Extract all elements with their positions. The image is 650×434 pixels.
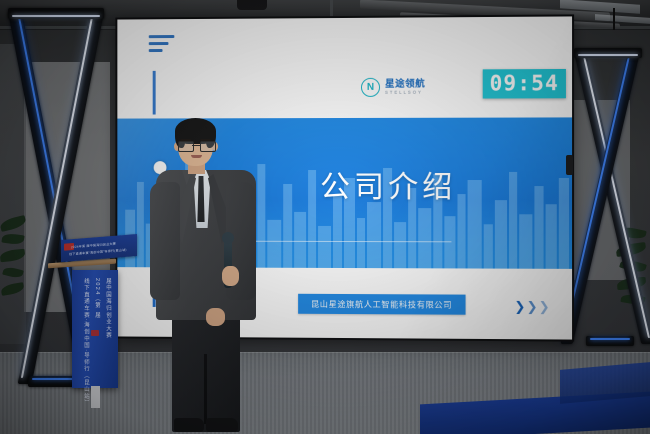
skyline-building	[546, 204, 557, 269]
deco-bar	[149, 42, 169, 45]
skyline-building	[534, 186, 543, 269]
countdown-timer: 09:54	[483, 69, 566, 99]
skyline-building	[308, 170, 316, 268]
light-hanging-rod	[613, 8, 615, 32]
presenter-shoe	[174, 418, 204, 432]
stellsoy-circle-logo-icon: N	[361, 78, 380, 97]
skyline-building	[495, 200, 507, 268]
podium-text-column-1: 届中国海归创业大赛	[103, 278, 113, 339]
podium-text-column-2: 2024（第 届	[92, 278, 102, 319]
skyline-building	[137, 182, 144, 267]
screen-bezel-notch	[566, 155, 573, 175]
podium-text-column-3: 线下直通车赛·海创中国·导师行（昆山站）	[81, 278, 91, 407]
skyline-building	[468, 180, 482, 269]
presenter-arm-left	[150, 182, 180, 300]
logo-name-cn: 星途领航	[385, 80, 425, 90]
skyline-building	[283, 184, 292, 268]
skyline-building	[444, 216, 455, 268]
logo-name-en: STELLSOY	[385, 90, 425, 94]
skyline-building	[519, 214, 532, 268]
skyline-building	[418, 208, 431, 268]
presenter-shoe	[206, 418, 238, 432]
skyline-building	[484, 224, 493, 268]
skyline-building	[559, 178, 569, 269]
presenter	[150, 118, 262, 418]
conference-stage-scene: N 星途领航 STELLSOY 09:54 公司介绍 昆山星途旗航人工智能科技有…	[0, 0, 650, 434]
skyline-building	[509, 172, 517, 269]
glasses-icon	[178, 141, 214, 150]
deco-bars	[149, 35, 175, 56]
slide-title: 公司介绍	[320, 162, 456, 206]
podium-logo-badge	[91, 330, 99, 336]
hanging-lamp	[237, 0, 267, 10]
deco-vertical-line	[153, 71, 156, 115]
presenter-mouth	[191, 155, 202, 158]
skyline-building	[318, 226, 331, 268]
company-name-banner: 昆山星途旗航人工智能科技有限公司	[298, 294, 465, 315]
event-podium-sign: 届中国海归创业大赛 2024（第 届 线下直通车赛·海创中国·导师行（昆山站）	[72, 270, 118, 388]
deco-bar	[149, 35, 175, 38]
brand-logo: N 星途领航 STELLSOY	[361, 78, 425, 97]
skyline-building	[267, 220, 281, 268]
skyline-building	[357, 218, 365, 268]
podium-stand-leg	[91, 386, 100, 408]
skyline-building	[367, 202, 381, 268]
deco-bar	[149, 49, 163, 52]
chevron-arrows-icon: ❯❯❯	[514, 300, 549, 313]
presenter-leg-split	[204, 354, 207, 424]
presenter-hand	[222, 266, 239, 286]
skyline-building	[457, 194, 465, 268]
led-x-frame-right	[572, 48, 650, 348]
skyline-building	[394, 222, 406, 268]
presenter-hand	[206, 308, 225, 326]
skyline-building	[333, 196, 342, 268]
